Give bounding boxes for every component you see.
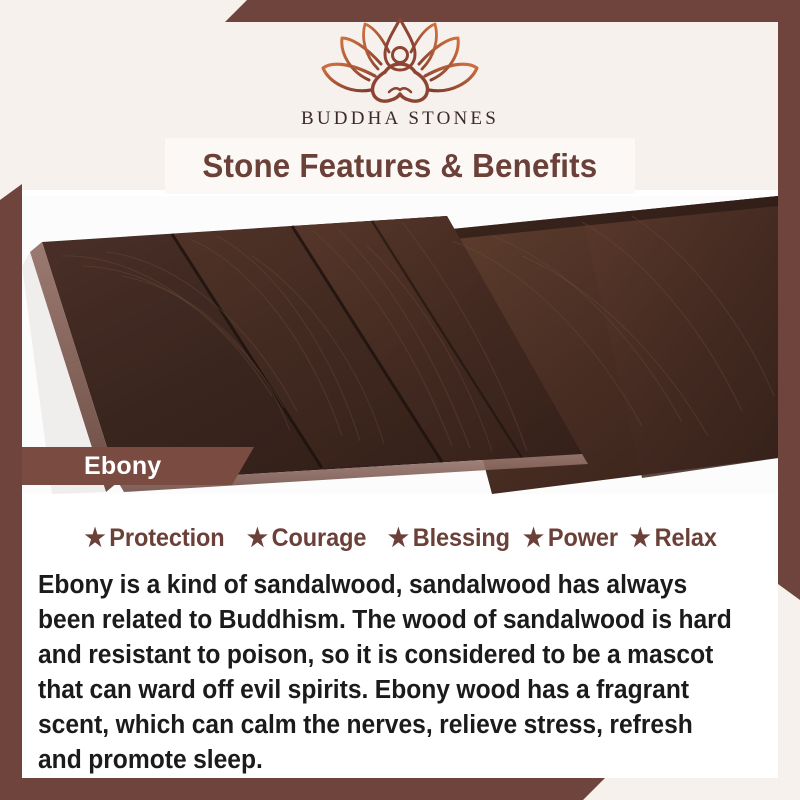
frame-right-border-tip bbox=[778, 584, 800, 600]
description-text: Ebony is a kind of sandalwood, sandalwoo… bbox=[38, 568, 733, 778]
stone-name-tag: Ebony bbox=[22, 447, 254, 485]
star-icon: ★ bbox=[247, 526, 268, 551]
stone-name-label: Ebony bbox=[84, 452, 161, 481]
feature-item-protection: ★ Protection bbox=[85, 524, 225, 553]
star-icon: ★ bbox=[85, 526, 106, 551]
brand-wordmark: BUDDHA STONES bbox=[0, 108, 800, 130]
page-title: Stone Features & Benefits bbox=[203, 147, 598, 185]
feature-label: Protection bbox=[109, 524, 224, 553]
feature-item-power: ★ Power bbox=[523, 524, 618, 553]
feature-label: Power bbox=[548, 524, 618, 553]
title-banner: Stone Features & Benefits bbox=[165, 138, 635, 194]
feature-label: Blessing bbox=[413, 524, 510, 553]
brand-logo: BUDDHA STONES bbox=[0, 14, 800, 130]
feature-item-relax: ★ Relax bbox=[630, 524, 717, 553]
frame-left-border-tip bbox=[0, 184, 22, 200]
frame-left-border bbox=[0, 200, 22, 778]
star-icon: ★ bbox=[388, 526, 409, 551]
star-icon: ★ bbox=[523, 526, 544, 551]
feature-label: Relax bbox=[655, 524, 717, 553]
frame-bottom-border bbox=[0, 778, 605, 800]
lotus-meditation-icon bbox=[315, 14, 485, 106]
feature-item-blessing: ★ Blessing bbox=[388, 524, 510, 553]
star-icon: ★ bbox=[630, 526, 651, 551]
poster-root: BUDDHA STONES Stone Features & Benefits … bbox=[0, 0, 800, 800]
features-list: ★ Protection ★ Courage ★ Blessing ★ Powe… bbox=[22, 524, 778, 553]
feature-label: Courage bbox=[272, 524, 367, 553]
feature-item-courage: ★ Courage bbox=[247, 524, 367, 553]
